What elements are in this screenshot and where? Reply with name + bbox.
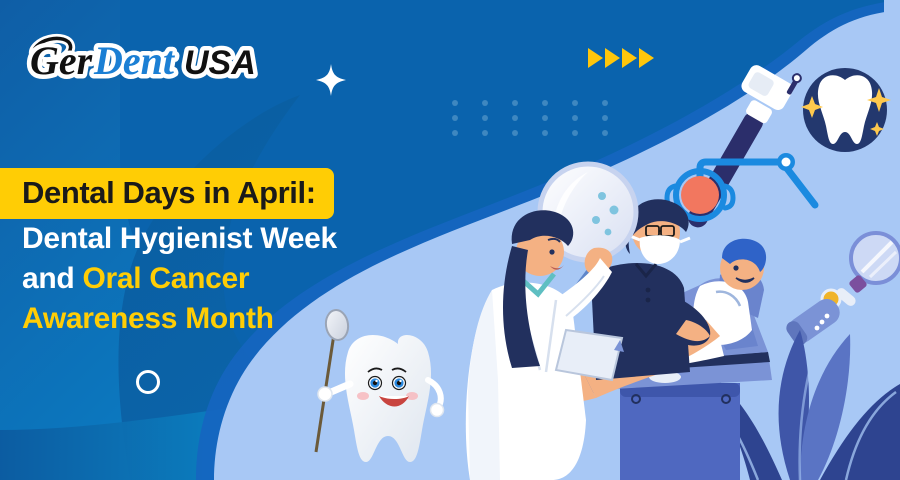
headline-band: Dental Days in April: [0, 168, 334, 219]
brand-logo-wordmark: Ger Ger Dent Dent USA USA [22, 30, 267, 90]
headline-line-2: Dental Hygienist Week [0, 219, 470, 259]
headline-line-3: and Oral Cancer [0, 259, 470, 299]
headline-line-4: Awareness Month [0, 299, 470, 339]
headline-block: Dental Days in April: Dental Hygienist W… [0, 168, 470, 339]
headline-line-3-yellow: Oral Cancer [82, 262, 249, 295]
svg-text:Dent: Dent [93, 38, 176, 83]
magnifying-glass-arm [784, 233, 900, 348]
headline-line-3-white: and [22, 262, 82, 295]
brand-logo[interactable]: Ger Ger Dent Dent USA USA [22, 30, 267, 86]
promotional-banner: Ger Ger Dent Dent USA USA Dental Days in… [0, 0, 900, 480]
svg-text:USA: USA [184, 44, 256, 82]
tooth-badge-icon [801, 68, 891, 152]
svg-text:Ger: Ger [30, 38, 93, 83]
operatory-light [667, 153, 815, 219]
